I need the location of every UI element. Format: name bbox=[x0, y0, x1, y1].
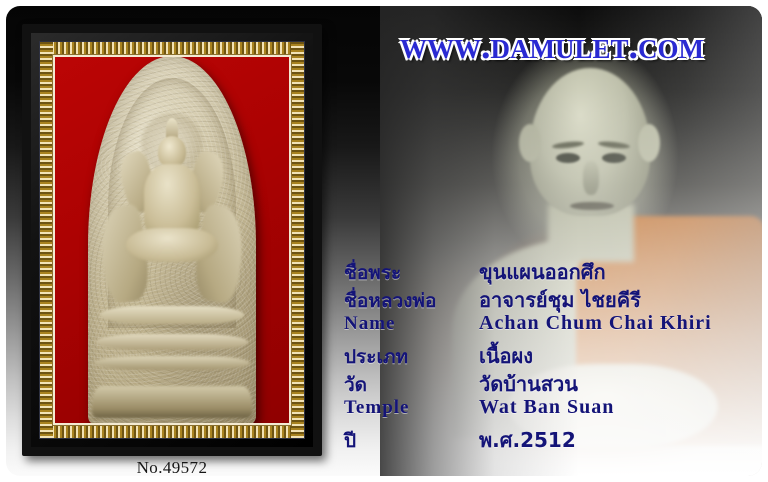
info-value-year-th: พ.ศ.2512 bbox=[479, 424, 576, 456]
amulet-foot bbox=[92, 386, 252, 418]
info-label-name-en: Name bbox=[344, 313, 479, 335]
serial-caption: No.49572 bbox=[22, 458, 322, 476]
info-row-name-en: Name Achan Chum Chai Khiri bbox=[344, 312, 762, 340]
info-label-temple-en: Temple bbox=[344, 397, 479, 419]
amulet-base-tier-2 bbox=[96, 334, 248, 350]
frame-slate-band bbox=[39, 41, 305, 439]
info-label-temple-th: วัด bbox=[344, 370, 479, 400]
info-row-temple-en: Temple Wat Ban Suan bbox=[344, 396, 762, 424]
amulet-buddha-lap bbox=[126, 228, 218, 262]
info-row-temple-th: วัด วัดบ้านสวน bbox=[344, 368, 762, 396]
amulet-listing-card: www.damulet.com bbox=[6, 6, 762, 476]
amulet-picture-frame[interactable] bbox=[22, 24, 322, 456]
amulet-base-tier-3 bbox=[94, 356, 250, 370]
info-value-temple-en: Wat Ban Suan bbox=[479, 396, 614, 419]
amulet-info-table: ชื่อพระ ขุนแผนออกศึก ชื่อหลวงพ่อ อาจารย์… bbox=[344, 256, 762, 452]
info-label-year-th: ปี bbox=[344, 426, 479, 456]
amulet-buddha-torso bbox=[144, 164, 200, 236]
info-row-name-th: ชื่อพระ ขุนแผนออกศึก bbox=[344, 256, 762, 284]
info-label-monk-th: ชื่อหลวงพ่อ bbox=[344, 286, 479, 316]
site-wordmark[interactable]: www.damulet.com bbox=[342, 23, 762, 69]
amulet-base-tier-1 bbox=[100, 306, 244, 324]
info-label-name-th: ชื่อพระ bbox=[344, 258, 479, 288]
info-value-name-en: Achan Chum Chai Khiri bbox=[479, 312, 712, 335]
info-row-year-th: ปี พ.ศ.2512 bbox=[344, 424, 762, 452]
buddha-amulet[interactable] bbox=[88, 57, 256, 423]
info-label-type-th: ประเภท bbox=[344, 342, 479, 372]
frame-cream-liner bbox=[52, 54, 292, 426]
info-row-type-th: ประเภท เนื้อผง bbox=[344, 340, 762, 368]
frame-red-mat bbox=[55, 57, 289, 423]
info-row-monk-th: ชื่อหลวงพ่อ อาจารย์ชุม ไชยคีรี bbox=[344, 284, 762, 312]
